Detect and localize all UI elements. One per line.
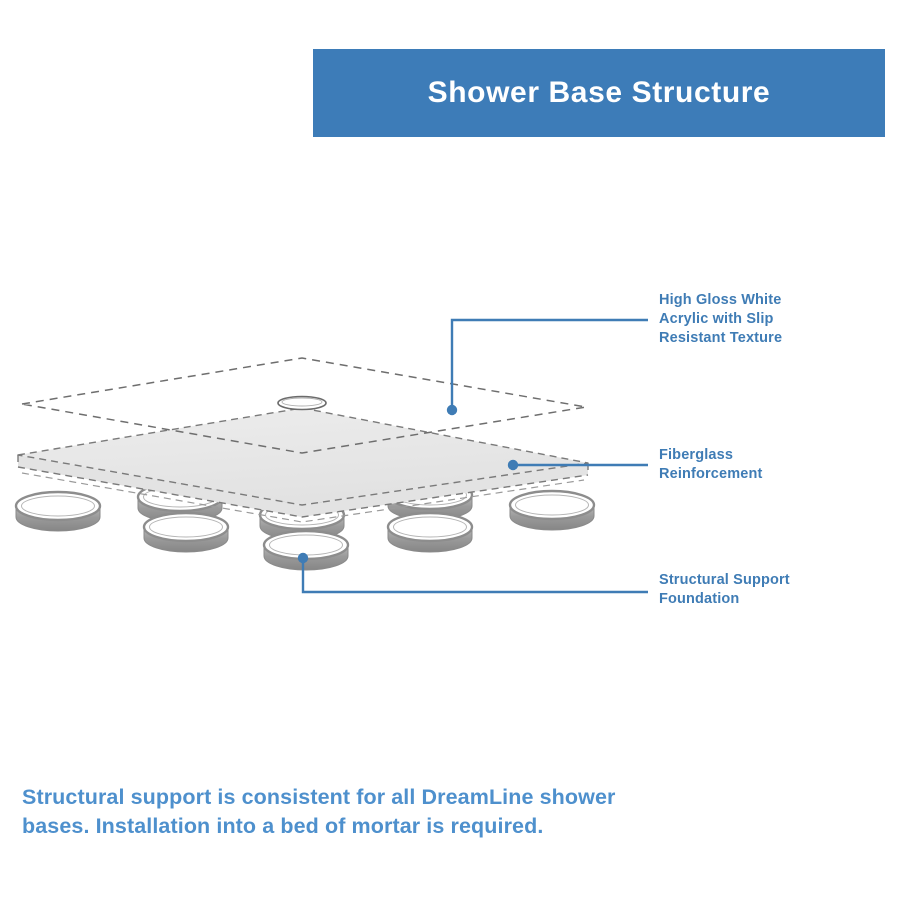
support-ring <box>510 491 594 530</box>
support-ring <box>16 492 100 531</box>
fiberglass-slab-layer <box>18 408 588 522</box>
callout-label-fiberglass: Fiberglass Reinforcement <box>659 446 869 484</box>
leader-line-support <box>298 553 648 592</box>
callout-label-support: Structural Support Foundation <box>659 571 879 609</box>
support-ring <box>388 513 472 552</box>
title-banner: Shower Base Structure <box>313 49 885 137</box>
page-title: Shower Base Structure <box>428 76 771 110</box>
support-ring <box>144 513 228 552</box>
support-ring <box>264 531 348 570</box>
drain-opening-icon <box>278 397 326 410</box>
footer-caption: Structural support is consistent for all… <box>22 783 622 840</box>
callout-label-acrylic: High Gloss White Acrylic with Slip Resis… <box>659 291 869 348</box>
diagram-page: Shower Base Structure <box>0 0 900 900</box>
